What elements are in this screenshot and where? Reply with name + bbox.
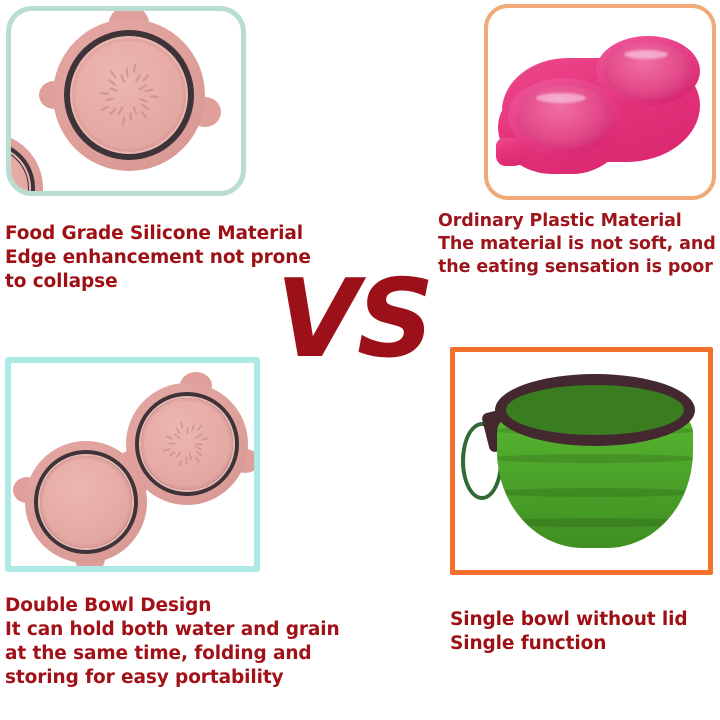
lid-texture-mark (197, 424, 203, 431)
product-photo-silicone-lid (11, 11, 241, 191)
lid-texture-mark (105, 97, 114, 101)
caption-top-right: Ordinary Plastic Material The material i… (438, 210, 720, 278)
panel-top-right-plastic-bowl (484, 4, 716, 200)
lid-texture-mark (189, 453, 193, 461)
caption-bottom-right: Single bowl without lid Single function (450, 608, 720, 656)
lid-texture-mark (122, 116, 126, 125)
bowl-foot-tab (496, 138, 528, 166)
lid-texture-mark (120, 74, 125, 83)
lid-texture-mark (195, 443, 202, 445)
bowl-gloss-front (536, 93, 586, 103)
silicone-bowl-lower-left (25, 441, 147, 563)
product-photo-plastic-double-bowl (488, 8, 712, 196)
lid-texture-mark (141, 104, 149, 111)
silicone-bowl-main (53, 19, 205, 171)
panel-bottom-left-double-silicone (5, 357, 260, 572)
lid-texture-mark (196, 433, 203, 438)
lid-texture-mark (195, 456, 200, 463)
lid-texture-mark (187, 427, 189, 434)
lid-texture-mark (196, 451, 203, 457)
lid-texture-mark (108, 79, 116, 86)
lid-texture-mark (133, 64, 137, 73)
bowl-fold-ridge (497, 488, 693, 497)
caption-bottom-left: Double Bowl Design It can hold both wate… (5, 594, 365, 690)
bowl-inner-lid (144, 401, 231, 488)
lid-texture-mark (150, 95, 159, 98)
lid-texture-mark (117, 107, 123, 116)
lid-texture-mark (174, 433, 181, 439)
bowl-gloss-rear (624, 50, 668, 59)
lid-texture-mark (142, 74, 150, 82)
lid-texture-mark (109, 107, 117, 115)
lid-texture-mark (168, 443, 175, 445)
lid-texture-mark (109, 87, 118, 92)
lid-texture-mark (169, 451, 176, 456)
bowl-fold-ridge (497, 518, 693, 527)
lid-texture-mark (180, 421, 184, 429)
product-photo-double-silicone-bowls (11, 363, 254, 566)
lid-texture-mark (110, 70, 117, 78)
lid-texture-mark (194, 446, 201, 450)
silicone-bowl-partial (6, 133, 43, 196)
lid-texture-mark (100, 92, 109, 95)
lid-texture-mark (185, 457, 187, 464)
lid-texture-mark (126, 68, 129, 77)
lid-texture-mark (135, 74, 141, 83)
lid-texture-mark (141, 111, 148, 119)
lid-texture-mark (201, 437, 209, 441)
product-photo-green-collapsible-bowl (455, 352, 708, 570)
bowl-fold-ridge (497, 454, 693, 463)
bowl-inner-plain (43, 459, 130, 546)
lid-texture-mark (139, 98, 148, 103)
lid-texture-mark (144, 89, 153, 93)
plastic-double-bowl (496, 30, 706, 182)
comparison-infographic: Food Grade Silicone Material Edge enhanc… (0, 0, 720, 720)
lid-texture-mark (129, 112, 132, 121)
lid-texture-mark (166, 436, 173, 440)
green-collapsible-bowl (469, 370, 697, 556)
lid-texture-mark (163, 448, 171, 452)
bowl-inner-lid (75, 41, 183, 149)
versus-label: VS (258, 264, 451, 374)
bowl-rim (495, 374, 695, 446)
lid-texture-mark (175, 427, 180, 434)
panel-top-left-silicone-lid (6, 6, 246, 196)
panel-bottom-right-green-bowl (450, 347, 713, 575)
lid-texture-mark (191, 424, 195, 431)
lid-texture-mark (175, 451, 181, 458)
lid-texture-mark (100, 105, 109, 111)
lid-texture-mark (132, 106, 137, 115)
lid-texture-mark (178, 459, 182, 466)
